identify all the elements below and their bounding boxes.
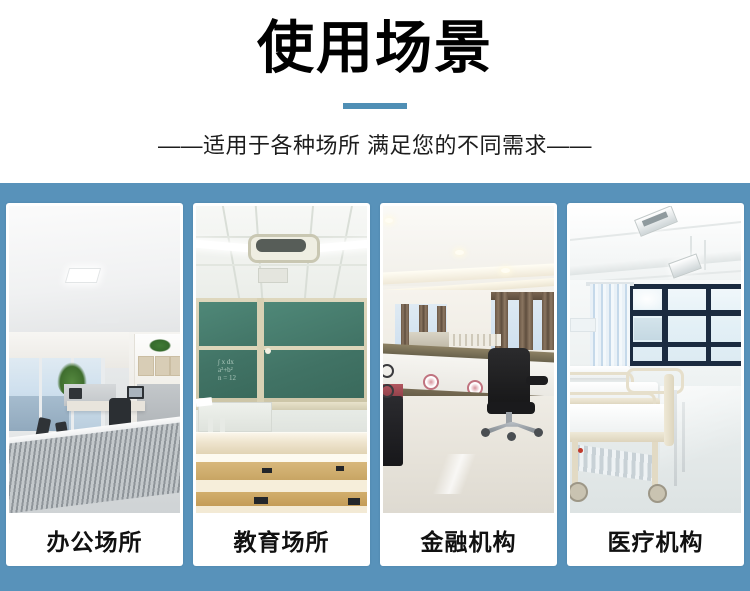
page-title: 使用场景 — [0, 14, 750, 82]
use-cases-page: 使用场景 ——适用于各种场所 满足您的不同需求—— — [0, 0, 750, 591]
classroom-board-divider — [257, 298, 264, 402]
hospital-window-frame — [628, 310, 741, 316]
hospital-window-frame — [628, 342, 741, 347]
hospital-window-glow — [633, 289, 661, 309]
hospital-bed-leg — [572, 440, 578, 484]
bank-chair-caster — [534, 428, 543, 437]
hospital-window-frame — [706, 284, 711, 366]
office-shelf-box — [170, 356, 180, 376]
bank-curtain — [519, 292, 533, 350]
scenario-label-office: 办公场所 — [9, 513, 180, 566]
hospital-bed-control-light — [578, 448, 583, 453]
office-scene-illustration — [9, 206, 180, 513]
bank-downlight-icon — [385, 218, 393, 223]
hospital-photo — [570, 206, 741, 513]
scenario-label-finance: 金融机构 — [383, 513, 554, 566]
bank-downlight-icon — [455, 250, 464, 255]
hospital-bed-caster — [648, 484, 667, 503]
hospital-scene-illustration — [570, 206, 741, 513]
page-subtitle: ——适用于各种场所 满足您的不同需求—— — [0, 131, 750, 161]
office-shelf-box — [155, 356, 170, 376]
office-shelf-plant — [149, 339, 171, 352]
bank-office-chair — [488, 348, 530, 410]
classroom-scene-illustration: ∫ x dxa²+b²n = 12 — [196, 206, 367, 513]
bank-scene-illustration — [383, 206, 554, 513]
bank-counter-medallion — [423, 374, 439, 390]
office-photo — [9, 206, 180, 513]
classroom-chalkboard — [264, 302, 364, 398]
scenario-card-list: 办公场所 — [6, 203, 744, 566]
office-desk — [67, 401, 145, 411]
bank-background-rail — [449, 334, 501, 346]
classroom-desk-fitting — [262, 468, 272, 473]
classroom-paper — [196, 397, 212, 407]
classroom-desk-row — [196, 492, 367, 506]
bank-downlight-icon — [501, 268, 510, 273]
classroom-chalkboard — [199, 302, 257, 398]
hospital-bed-frame — [570, 432, 676, 442]
scenario-label-medical: 医疗机构 — [570, 513, 741, 566]
classroom-desk-row — [196, 454, 367, 462]
bank-photo — [383, 206, 554, 513]
classroom-board-divider — [264, 346, 364, 350]
hospital-privacy-curtain — [590, 284, 630, 374]
classroom-board-divider — [199, 346, 257, 350]
title-accent-bar — [343, 103, 407, 109]
hospital-bed-mattress — [570, 404, 674, 434]
classroom-desk-row — [196, 480, 367, 492]
scenario-card-finance[interactable]: 金融机构 — [380, 203, 557, 566]
bank-chair-armrest — [526, 376, 548, 385]
hospital-bed-headboard — [664, 374, 674, 446]
office-panel-light-icon — [65, 268, 101, 283]
bank-chair-caster — [481, 428, 490, 437]
page-header: 使用场景 ——适用于各种场所 满足您的不同需求—— — [0, 0, 750, 183]
office-shelf-box — [138, 356, 154, 376]
bank-floor-reflection — [393, 454, 513, 494]
classroom-desk-fitting — [348, 498, 360, 505]
hospital-iv-pole — [682, 402, 685, 472]
bank-chair-caster — [507, 432, 516, 441]
scenario-label-education: 教育场所 — [196, 513, 367, 566]
hospital-wall-panel — [570, 318, 596, 332]
bank-kiosk — [383, 396, 403, 466]
classroom-photo: ∫ x dxa²+b²n = 12 — [196, 206, 367, 513]
scenario-card-office[interactable]: 办公场所 — [6, 203, 183, 566]
scenarios-band: 办公场所 — [0, 183, 750, 591]
hospital-fixture-hanger — [704, 240, 706, 270]
bank-curtain — [401, 304, 409, 348]
office-monitor-screen — [129, 388, 142, 397]
scenario-card-education[interactable]: ∫ x dxa²+b²n = 12 — [193, 203, 370, 566]
hospital-outside-building — [634, 318, 664, 340]
hospital-window-frame — [662, 284, 668, 366]
office-ceiling-vent — [96, 318, 119, 323]
classroom-ceiling-seam — [196, 264, 367, 266]
classroom-projector-arm — [258, 268, 288, 283]
hospital-bed-leg — [652, 442, 658, 486]
classroom-projector-lens — [256, 239, 306, 252]
hospital-window-frame — [628, 284, 741, 289]
classroom-chalk-writing: ∫ x dxa²+b²n = 12 — [218, 358, 256, 382]
hospital-iv-pole — [674, 390, 677, 486]
classroom-desk-fitting — [254, 497, 268, 504]
bank-curtain — [542, 292, 554, 350]
scenario-card-medical[interactable]: 医疗机构 — [567, 203, 744, 566]
classroom-desk-fitting — [336, 466, 344, 471]
classroom-desk-row — [196, 462, 367, 480]
classroom-board-knob — [265, 348, 271, 354]
office-monitor — [69, 388, 82, 399]
classroom-desk-row — [196, 506, 367, 513]
classroom-desk-row — [196, 432, 367, 455]
